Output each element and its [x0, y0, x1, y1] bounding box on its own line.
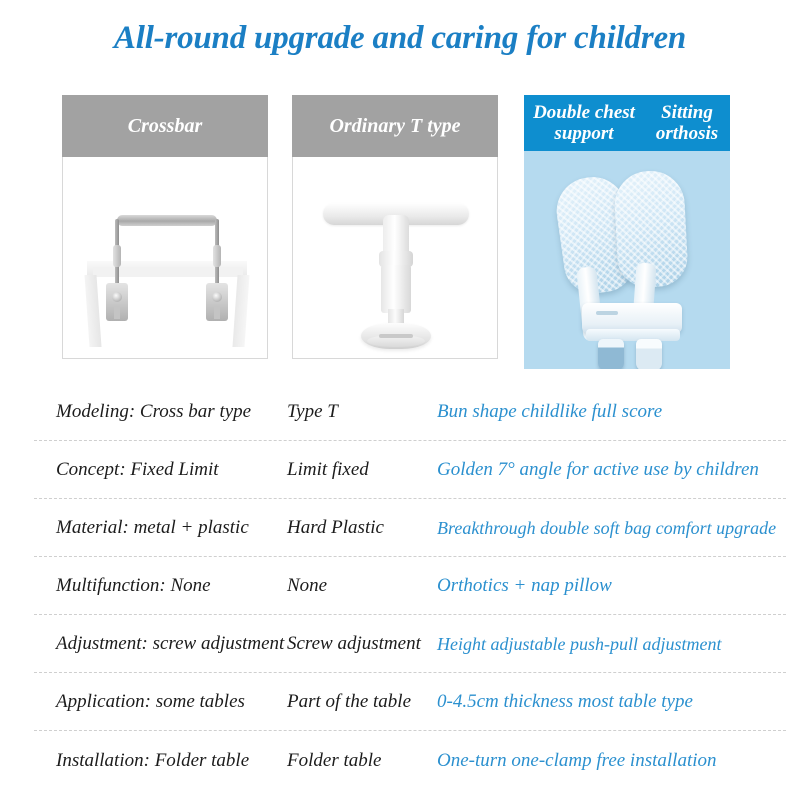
spec-orthosis-material: Breakthrough double soft bag comfort upg… — [437, 519, 786, 537]
spec-crossbar-application: Application: some tables — [34, 692, 287, 711]
spec-crossbar-adjustment: Adjustment: screw adjustment — [34, 634, 287, 653]
orthosis-brand-label-shape — [596, 311, 618, 315]
spec-crossbar-multifunction: Multifunction: None — [34, 576, 287, 595]
crossbar-clamp-right-shape — [206, 283, 228, 321]
clamp-knob-right-shape — [636, 339, 662, 369]
spec-crossbar-material: Material: metal + plastic — [34, 518, 287, 537]
panel-title-sitting-orthosis: Double chest support — [524, 102, 644, 145]
crossbar-clamp-left-shape — [106, 283, 128, 321]
product-panel-crossbar: Crossbar — [62, 95, 268, 359]
panel-header-sitting-orthosis: Double chest support Sitting orthosis — [524, 95, 730, 151]
spec-tbar-adjustment: Screw adjustment — [287, 634, 437, 653]
spec-tbar-installation: Folder table — [287, 751, 437, 770]
spec-tbar-application: Part of the table — [287, 692, 437, 711]
t-bar-brand-label-shape — [379, 334, 413, 338]
spec-tbar-modeling: Type T — [287, 402, 437, 421]
panel-title-crossbar: Crossbar — [128, 115, 202, 137]
t-bar-column-shape — [381, 265, 411, 313]
product-image-ordinary-t-type — [292, 157, 498, 359]
spec-row-adjustment: Adjustment: screw adjustment Screw adjus… — [34, 615, 786, 673]
panel-subtitle-sitting-orthosis: Sitting orthosis — [644, 102, 730, 145]
product-image-crossbar — [62, 157, 268, 359]
panel-title-ordinary-t-type: Ordinary T type — [329, 115, 460, 137]
t-bar-neck-shape — [383, 215, 409, 255]
product-panel-ordinary-t-type: Ordinary T type — [292, 95, 498, 359]
desk-leg-right-shape — [232, 275, 249, 347]
spec-tbar-material: Hard Plastic — [287, 518, 437, 537]
crossbar-sleeve-left-shape — [113, 245, 121, 267]
spec-crossbar-modeling: Modeling: Cross bar type — [34, 402, 287, 421]
desk-leg-left-shape — [84, 275, 101, 347]
infographic-page: All-round upgrade and caring for childre… — [0, 0, 800, 800]
spec-orthosis-multifunction: Orthotics + nap pillow — [437, 576, 786, 595]
crossbar-sleeve-right-shape — [213, 245, 221, 267]
spec-orthosis-installation: One-turn one-clamp free installation — [437, 751, 786, 770]
spec-row-modeling: Modeling: Cross bar type Type T Bun shap… — [34, 383, 786, 441]
product-panel-sitting-orthosis: Double chest support Sitting orthosis — [524, 95, 730, 369]
spec-comparison-table: Modeling: Cross bar type Type T Bun shap… — [34, 383, 786, 789]
product-image-sitting-orthosis — [524, 151, 730, 369]
spec-crossbar-concept: Concept: Fixed Limit — [34, 460, 287, 479]
clamp-knob-left-shape — [598, 339, 624, 369]
spec-row-installation: Installation: Folder table Folder table … — [34, 731, 786, 789]
panel-header-ordinary-t-type: Ordinary T type — [292, 95, 498, 157]
spec-row-multifunction: Multifunction: None None Orthotics + nap… — [34, 557, 786, 615]
panel-header-crossbar: Crossbar — [62, 95, 268, 157]
spec-row-application: Application: some tables Part of the tab… — [34, 673, 786, 731]
spec-row-material: Material: metal + plastic Hard Plastic B… — [34, 499, 786, 557]
spec-tbar-concept: Limit fixed — [287, 460, 437, 479]
spec-orthosis-modeling: Bun shape childlike full score — [437, 402, 786, 421]
spec-row-concept: Concept: Fixed Limit Limit fixed Golden … — [34, 441, 786, 499]
spec-tbar-multifunction: None — [287, 576, 437, 595]
product-panels: Crossbar Ordinary T type — [0, 95, 800, 377]
page-title: All-round upgrade and caring for childre… — [0, 20, 800, 57]
crossbar-bar-shape — [117, 215, 217, 226]
spec-orthosis-concept: Golden 7° angle for active use by childr… — [437, 460, 786, 479]
spec-orthosis-adjustment: Height adjustable push-pull adjustment — [437, 635, 786, 653]
spec-crossbar-installation: Installation: Folder table — [34, 751, 287, 770]
spec-orthosis-application: 0-4.5cm thickness most table type — [437, 692, 786, 711]
